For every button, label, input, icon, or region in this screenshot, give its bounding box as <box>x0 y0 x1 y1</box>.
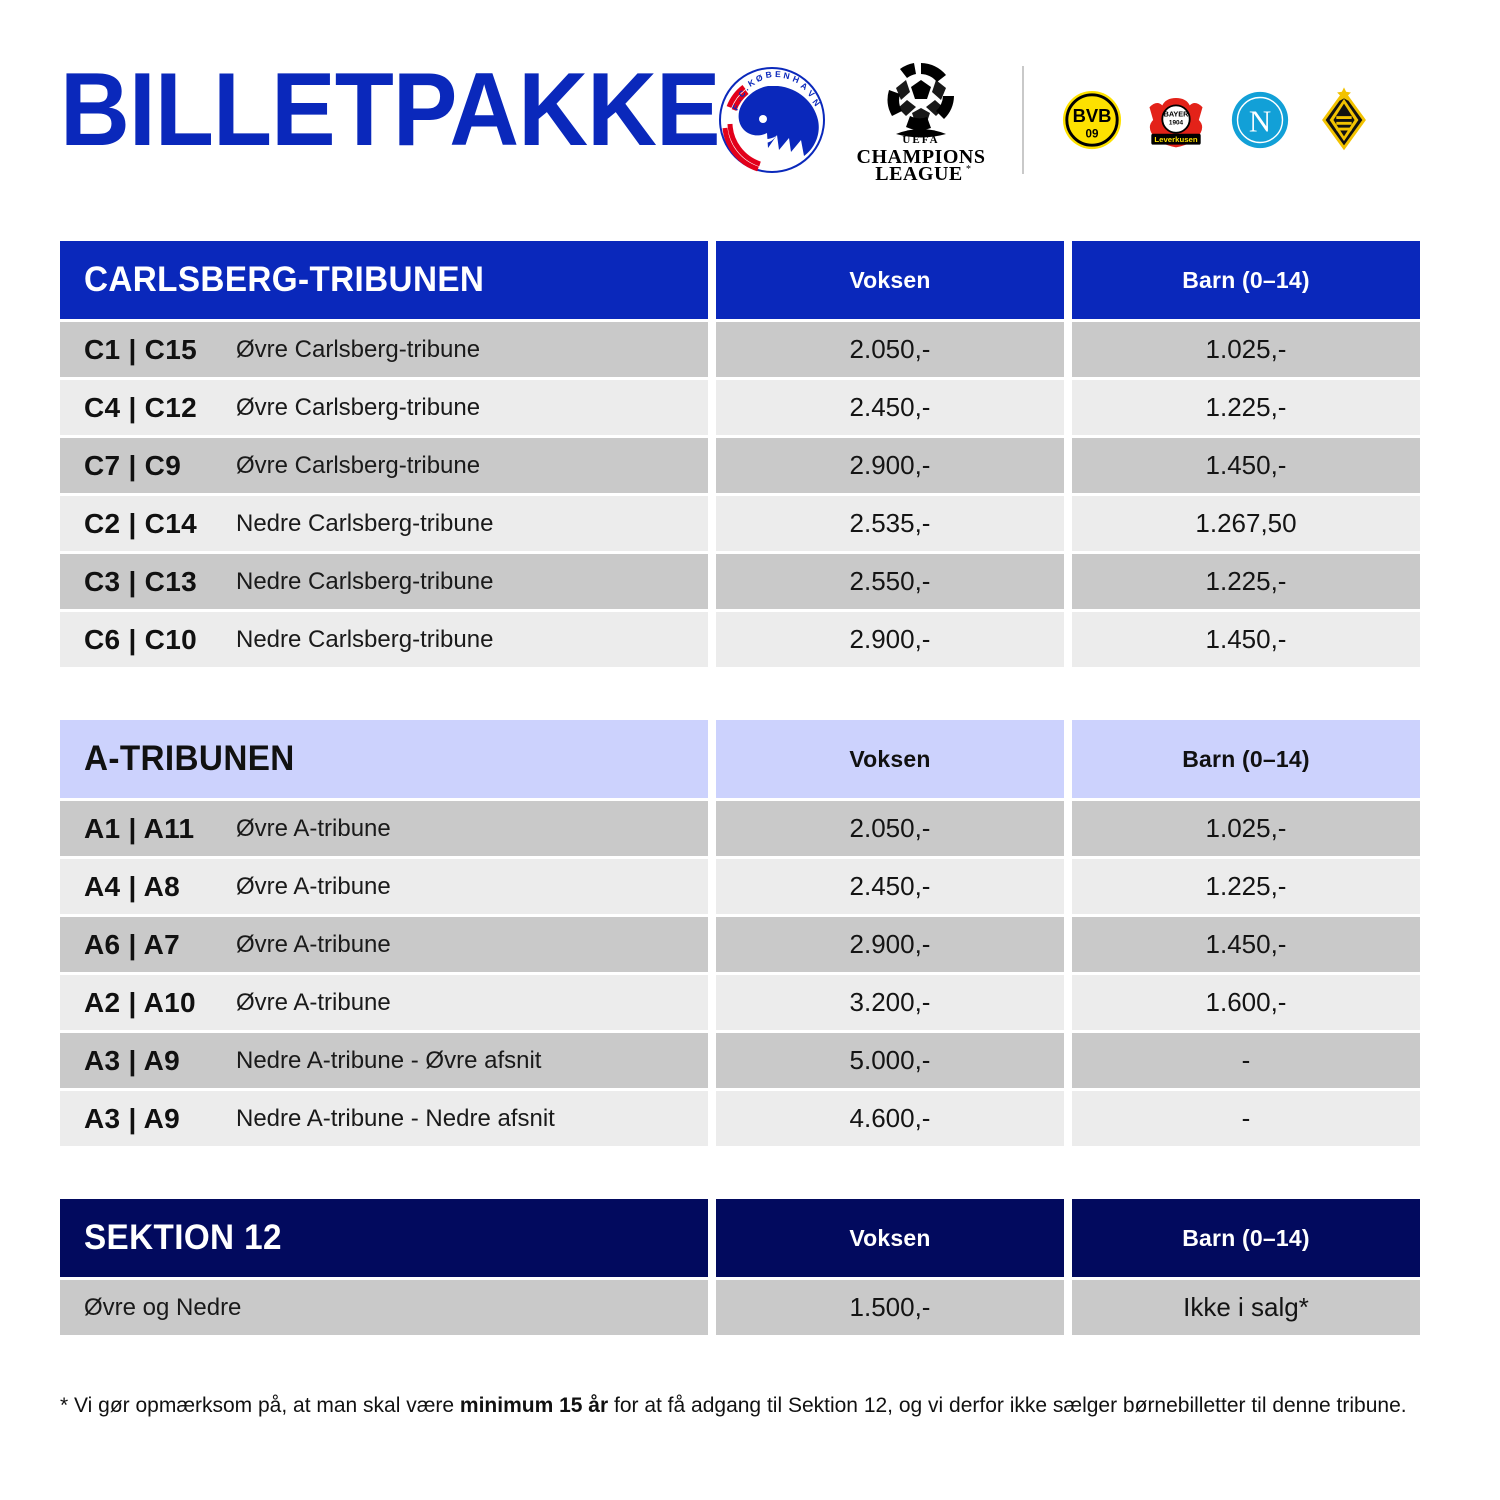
child-price-cell: 1.267,50 <box>1072 496 1420 551</box>
section-title: CARLSBERG-TRIBUNEN <box>84 260 484 300</box>
section-code: A1 | A11 <box>84 813 236 845</box>
adult-price-cell: 2.900,- <box>716 438 1064 493</box>
logo-divider <box>1022 66 1024 174</box>
row-section-cell: C7 | C9 Øvre Carlsberg-tribune <box>60 438 708 493</box>
row-section-cell: A3 | A9 Nedre A-tribune - Øvre afsnit <box>60 1033 708 1088</box>
section-description: Øvre Carlsberg-tribune <box>236 452 480 480</box>
table-carlsberg-tribunen: CARLSBERG-TRIBUNEN Voksen Barn (0–14) C1… <box>60 241 1420 670</box>
table-header-row: CARLSBERG-TRIBUNEN Voksen Barn (0–14) <box>60 241 1420 319</box>
child-price-cell: 1.225,- <box>1072 380 1420 435</box>
section-code: A3 | A9 <box>84 1103 236 1135</box>
table-row: A1 | A11 Øvre A-tribune 2.050,- 1.025,- <box>60 801 1420 856</box>
table-row: A2 | A10 Øvre A-tribune 3.200,- 1.600,- <box>60 975 1420 1030</box>
adult-price-cell: 2.550,- <box>716 554 1064 609</box>
section-code: A4 | A8 <box>84 871 236 903</box>
child-price-cell: 1.450,- <box>1072 612 1420 667</box>
section-code: A2 | A10 <box>84 987 236 1019</box>
column-header-adult: Voksen <box>716 241 1064 319</box>
child-price-cell: - <box>1072 1033 1420 1088</box>
adult-price-cell: 2.535,- <box>716 496 1064 551</box>
section-description: Øvre A-tribune <box>236 989 391 1017</box>
row-section-cell: A1 | A11 Øvre A-tribune <box>60 801 708 856</box>
section-title-cell: CARLSBERG-TRIBUNEN <box>60 241 708 319</box>
adult-price-cell: 4.600,- <box>716 1091 1064 1146</box>
section-description: Øvre A-tribune <box>236 815 391 843</box>
child-price-cell: 1.025,- <box>1072 322 1420 377</box>
child-price-cell: 1.600,- <box>1072 975 1420 1030</box>
section-description: Øvre A-tribune <box>236 873 391 901</box>
adult-price-cell: 2.050,- <box>716 801 1064 856</box>
section-code: C7 | C9 <box>84 450 236 482</box>
svg-text:BAYER: BAYER <box>1164 109 1190 118</box>
row-section-cell: A4 | A8 Øvre A-tribune <box>60 859 708 914</box>
table-row: A4 | A8 Øvre A-tribune 2.450,- 1.225,- <box>60 859 1420 914</box>
uefa-champions-league-icon: UEFA CHAMPIONS LEAGUE * <box>856 58 986 183</box>
row-section-cell: C3 | C13 Nedre Carlsberg-tribune <box>60 554 708 609</box>
row-section-cell: C1 | C15 Øvre Carlsberg-tribune <box>60 322 708 377</box>
section-code: A3 | A9 <box>84 1045 236 1077</box>
child-price-cell: 1.450,- <box>1072 438 1420 493</box>
column-header-child: Barn (0–14) <box>1072 1199 1420 1277</box>
svg-text:N: N <box>1249 103 1271 138</box>
table-header-row: A-TRIBUNEN Voksen Barn (0–14) <box>60 720 1420 798</box>
child-price-cell: Ikke i salg* <box>1072 1280 1420 1335</box>
adult-price-cell: 2.450,- <box>716 859 1064 914</box>
section-description: Øvre A-tribune <box>236 931 391 959</box>
footnote-part2: for at få adgang til Sektion 12, og vi d… <box>608 1394 1406 1417</box>
table-row: C4 | C12 Øvre Carlsberg-tribune 2.450,- … <box>60 380 1420 435</box>
adult-price-cell: 2.450,- <box>716 380 1064 435</box>
column-header-adult: Voksen <box>716 1199 1064 1277</box>
row-section-cell: A3 | A9 Nedre A-tribune - Nedre afsnit <box>60 1091 708 1146</box>
svg-text:Leverkusen: Leverkusen <box>1154 135 1197 144</box>
section-description: Øvre Carlsberg-tribune <box>236 336 480 364</box>
section-description: Nedre A-tribune - Nedre afsnit <box>236 1105 555 1133</box>
section-code: C1 | C15 <box>84 334 236 366</box>
child-price-cell: - <box>1072 1091 1420 1146</box>
section-code: A6 | A7 <box>84 929 236 961</box>
section-code: C3 | C13 <box>84 566 236 598</box>
logo-strip: F . C . K Ø B E N H A V N <box>716 55 1376 185</box>
row-section-cell: C2 | C14 Nedre Carlsberg-tribune <box>60 496 708 551</box>
section-description: Øvre Carlsberg-tribune <box>236 394 480 422</box>
section-description: Nedre Carlsberg-tribune <box>236 568 493 596</box>
kairat-almaty-crest-icon <box>1312 85 1376 155</box>
borussia-dortmund-crest-icon: BVB 09 <box>1060 85 1124 155</box>
section-description: Nedre Carlsberg-tribune <box>236 510 493 538</box>
column-header-child: Barn (0–14) <box>1072 241 1420 319</box>
footnote-part1: * Vi gør opmærksom på, at man skal være <box>60 1394 460 1417</box>
child-price-cell: 1.225,- <box>1072 859 1420 914</box>
section-code: C4 | C12 <box>84 392 236 424</box>
table-row: A6 | A7 Øvre A-tribune 2.900,- 1.450,- <box>60 917 1420 972</box>
table-header-row: SEKTION 12 Voksen Barn (0–14) <box>60 1199 1420 1277</box>
table-row: Øvre og Nedre 1.500,- Ikke i salg* <box>60 1280 1420 1335</box>
section-code: C6 | C10 <box>84 624 236 656</box>
section-description: Nedre Carlsberg-tribune <box>236 626 493 654</box>
row-section-cell: A2 | A10 Øvre A-tribune <box>60 975 708 1030</box>
table-row: C1 | C15 Øvre Carlsberg-tribune 2.050,- … <box>60 322 1420 377</box>
fc-kobenhavn-crest-icon: F . C . K Ø B E N H A V N <box>716 64 828 176</box>
column-header-adult: Voksen <box>716 720 1064 798</box>
row-section-cell: C4 | C12 Øvre Carlsberg-tribune <box>60 380 708 435</box>
row-section-cell: Øvre og Nedre <box>60 1280 708 1335</box>
svg-text:UEFA: UEFA <box>902 134 939 146</box>
svg-text:1904: 1904 <box>1169 120 1184 127</box>
svg-text:09: 09 <box>1086 127 1099 140</box>
billetpakke-price-sheet: BILLETPAKKE F . <box>0 0 1500 1500</box>
svg-text:*: * <box>966 164 971 175</box>
section-title-cell: A-TRIBUNEN <box>60 720 708 798</box>
adult-price-cell: 2.900,- <box>716 917 1064 972</box>
table-row: A3 | A9 Nedre A-tribune - Nedre afsnit 4… <box>60 1091 1420 1146</box>
child-price-cell: 1.225,- <box>1072 554 1420 609</box>
bayer-leverkusen-crest-icon: BAYER 1904 Leverkusen <box>1144 85 1208 155</box>
section-title: SEKTION 12 <box>84 1218 282 1258</box>
child-price-cell: 1.450,- <box>1072 917 1420 972</box>
table-sektion-12: SEKTION 12 Voksen Barn (0–14) Øvre og Ne… <box>60 1199 1420 1338</box>
napoli-crest-icon: N <box>1228 85 1292 155</box>
child-price-cell: 1.025,- <box>1072 801 1420 856</box>
row-section-cell: A6 | A7 Øvre A-tribune <box>60 917 708 972</box>
adult-price-cell: 2.900,- <box>716 612 1064 667</box>
table-row: C7 | C9 Øvre Carlsberg-tribune 2.900,- 1… <box>60 438 1420 493</box>
section-description: Øvre og Nedre <box>84 1294 241 1322</box>
adult-price-cell: 3.200,- <box>716 975 1064 1030</box>
table-row: C6 | C10 Nedre Carlsberg-tribune 2.900,-… <box>60 612 1420 667</box>
adult-price-cell: 2.050,- <box>716 322 1064 377</box>
section-description: Nedre A-tribune - Øvre afsnit <box>236 1047 541 1075</box>
table-row: C3 | C13 Nedre Carlsberg-tribune 2.550,-… <box>60 554 1420 609</box>
table-a-tribunen: A-TRIBUNEN Voksen Barn (0–14) A1 | A11 Ø… <box>60 720 1420 1149</box>
table-row: C2 | C14 Nedre Carlsberg-tribune 2.535,-… <box>60 496 1420 551</box>
adult-price-cell: 5.000,- <box>716 1033 1064 1088</box>
section-code: C2 | C14 <box>84 508 236 540</box>
footnote: * Vi gør opmærksom på, at man skal være … <box>60 1392 1460 1420</box>
column-header-child: Barn (0–14) <box>1072 720 1420 798</box>
svg-text:LEAGUE: LEAGUE <box>875 163 962 183</box>
svg-text:E: E <box>775 69 781 79</box>
table-row: A3 | A9 Nedre A-tribune - Øvre afsnit 5.… <box>60 1033 1420 1088</box>
section-title-cell: SEKTION 12 <box>60 1199 708 1277</box>
svg-text:BVB: BVB <box>1073 105 1112 126</box>
row-section-cell: C6 | C10 Nedre Carlsberg-tribune <box>60 612 708 667</box>
footnote-emphasis: minimum 15 år <box>460 1394 608 1417</box>
page-title: BILLETPAKKE <box>60 58 720 162</box>
section-title: A-TRIBUNEN <box>84 739 295 779</box>
page-header: BILLETPAKKE F . <box>0 0 1500 225</box>
adult-price-cell: 1.500,- <box>716 1280 1064 1335</box>
